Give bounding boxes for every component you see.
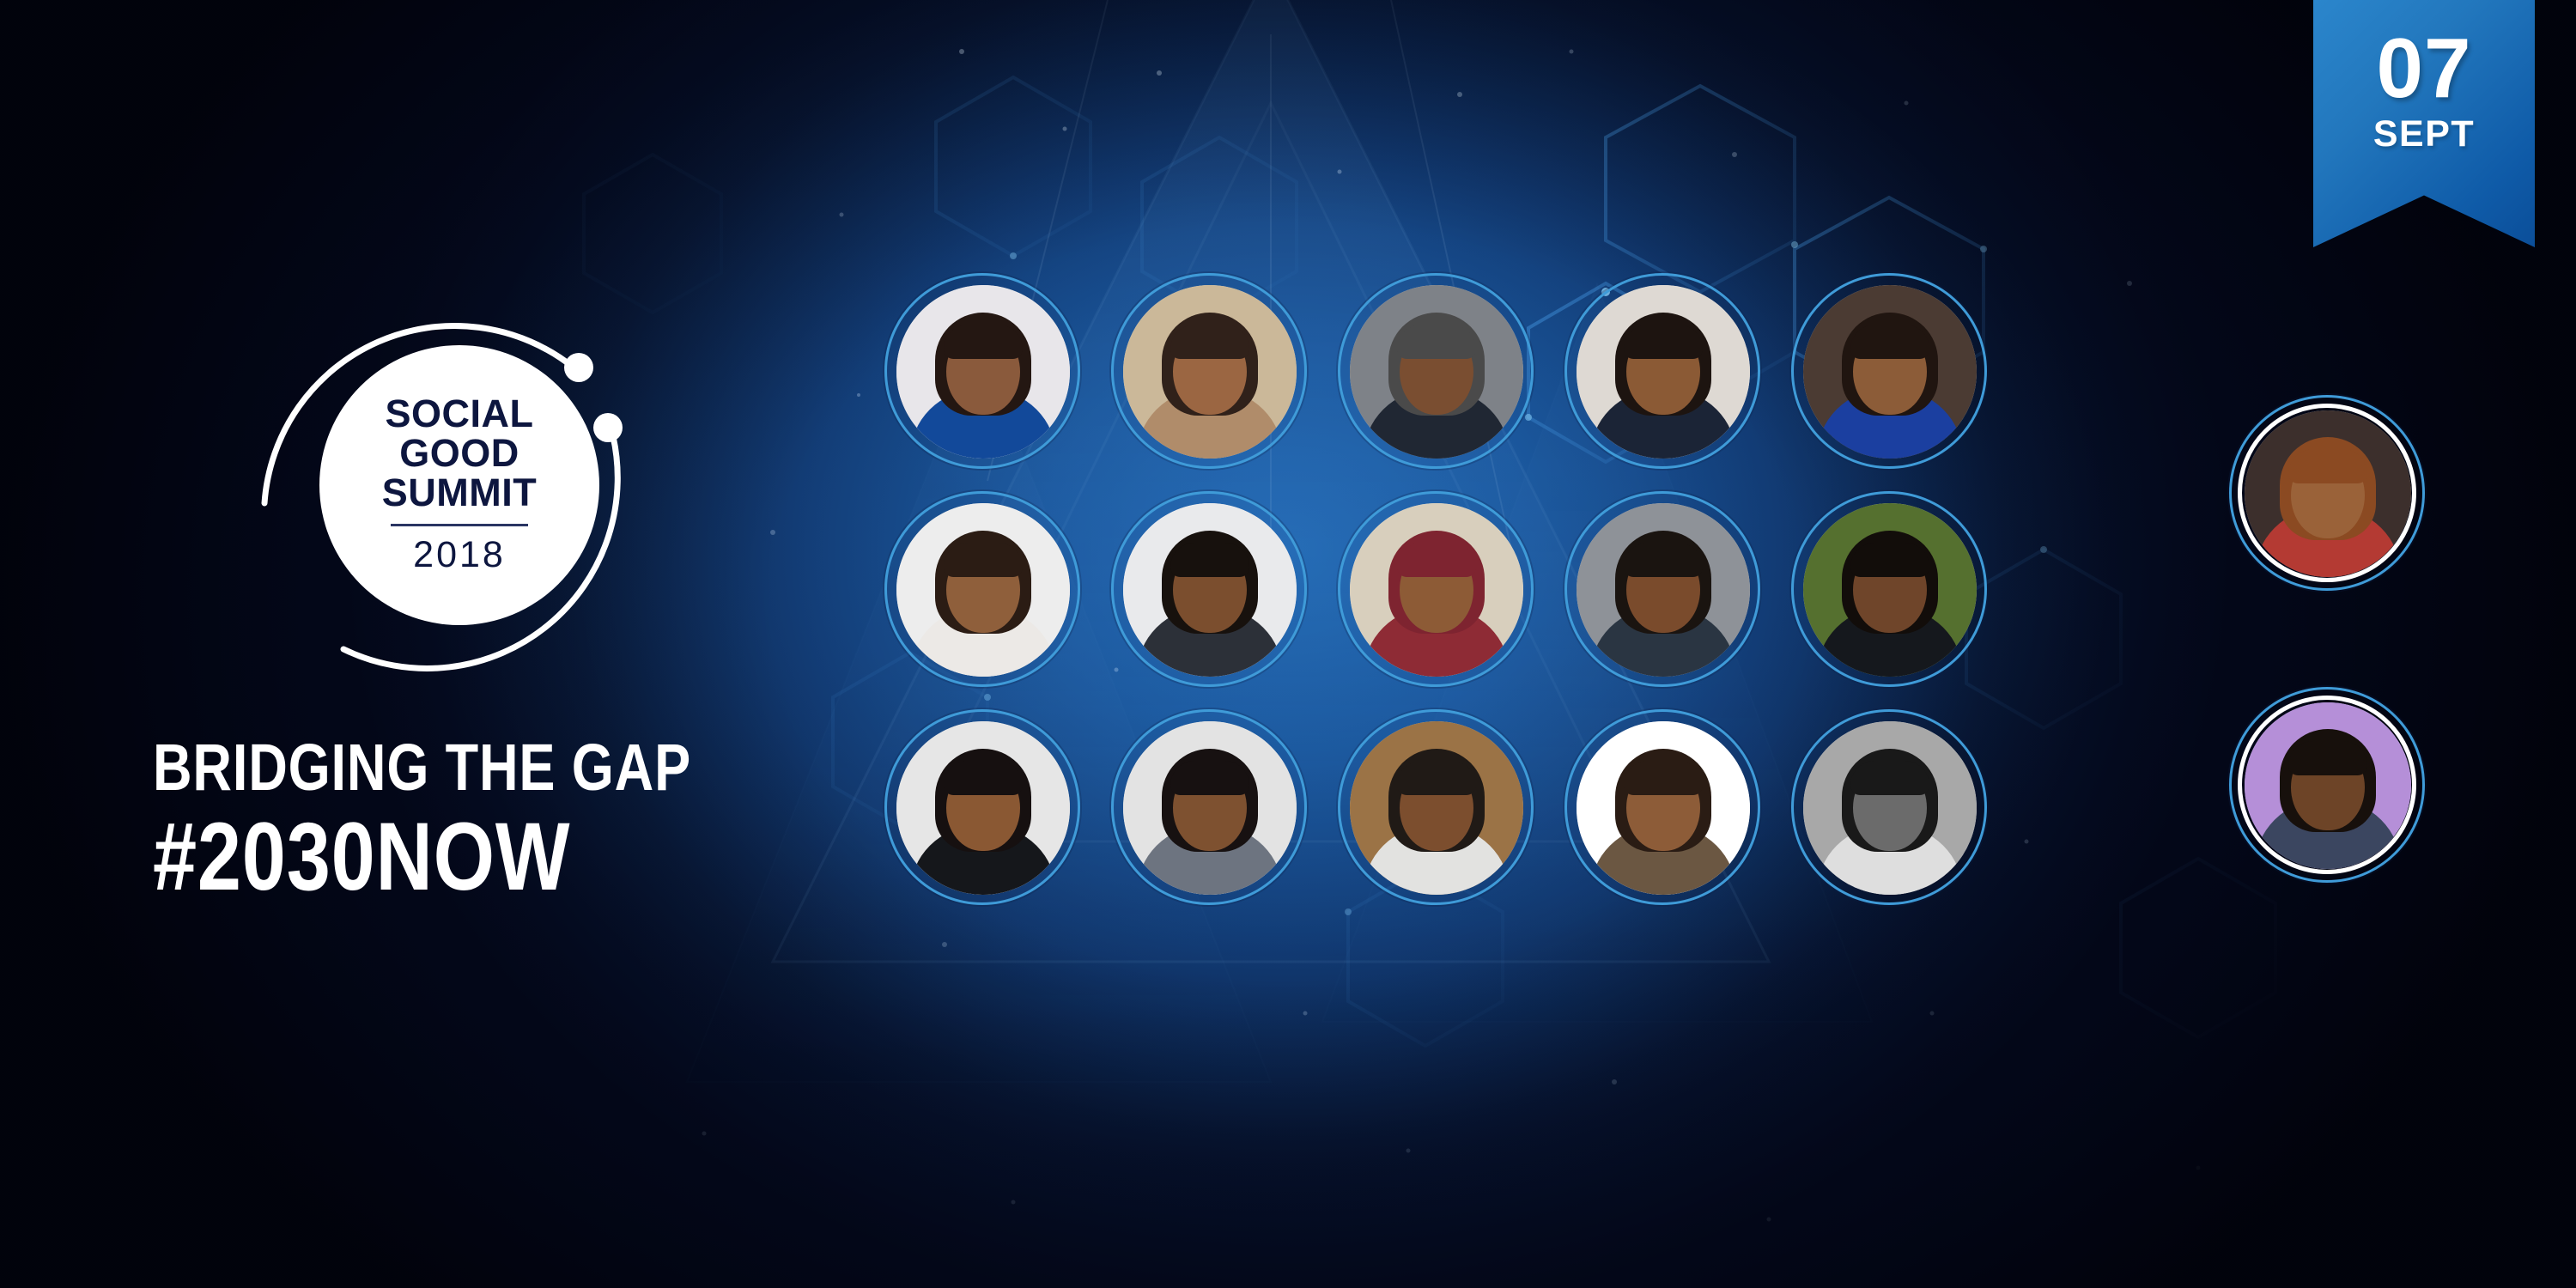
speaker-portrait (1791, 273, 1987, 469)
speaker-portrait (1564, 491, 1760, 687)
logo-line-summit: SUMMIT (382, 473, 537, 513)
speaker-16-photo (2245, 410, 2411, 577)
speaker-grid-row (884, 273, 1987, 469)
speaker-15-photo (1803, 721, 1977, 895)
speaker-portrait (2229, 395, 2425, 591)
footer-partners: POWERED BY (0, 1091, 2576, 1288)
speaker-portrait (1564, 709, 1760, 905)
speaker-17-photo (2245, 702, 2411, 869)
speaker-4-photo (1577, 285, 1750, 459)
speaker-grid-row (884, 491, 1987, 687)
speaker-portrait (884, 273, 1080, 469)
speaker-9-photo (1577, 503, 1750, 677)
speaker-portrait (884, 491, 1080, 687)
brand-column: SOCIAL GOOD SUMMIT 2018 BRIDGING THE GAP… (0, 0, 859, 1116)
speaker-grid-row (884, 709, 1987, 905)
speaker-7-photo (1123, 503, 1297, 677)
speaker-13-photo (1350, 721, 1523, 895)
speaker-portrait (1111, 491, 1307, 687)
speaker-portrait (1564, 273, 1760, 469)
tagline-primary: BRIDGING THE GAP (153, 734, 688, 802)
speaker-portrait (1338, 709, 1534, 905)
speaker-10-photo (1803, 503, 1977, 677)
speaker-portrait (2229, 687, 2425, 883)
speaker-14-photo (1577, 721, 1750, 895)
date-day: 07 (2376, 26, 2471, 110)
logo-line-good: GOOD (399, 434, 519, 473)
logo-year: 2018 (413, 534, 506, 576)
tagline-hashtag: #2030NOW (153, 807, 688, 906)
logo-line-social: SOCIAL (385, 394, 533, 434)
speaker-portrait (1111, 273, 1307, 469)
summit-logo-disc: SOCIAL GOOD SUMMIT 2018 (319, 345, 599, 625)
speaker-side-bottom (2229, 687, 2425, 883)
event-tagline: BRIDGING THE GAP #2030NOW (153, 734, 805, 907)
speaker-portrait (1338, 273, 1534, 469)
event-banner: SOCIAL GOOD SUMMIT 2018 BRIDGING THE GAP… (0, 0, 2576, 1288)
speaker-5-photo (1803, 285, 1977, 459)
speaker-portrait (1791, 491, 1987, 687)
speaker-portrait (884, 709, 1080, 905)
date-month: SEPT (2373, 113, 2475, 155)
speaker-portrait (1791, 709, 1987, 905)
logo-divider (391, 524, 528, 526)
speaker-grid (884, 273, 1987, 927)
speaker-3-photo (1350, 285, 1523, 459)
date-badge: 07 SEPT (2313, 0, 2535, 247)
speaker-portrait (1338, 491, 1534, 687)
speaker-6-photo (896, 503, 1070, 677)
speaker-portrait (1111, 709, 1307, 905)
speaker-8-photo (1350, 503, 1523, 677)
speaker-12-photo (1123, 721, 1297, 895)
speaker-side-top (2229, 395, 2425, 591)
speaker-2-photo (1123, 285, 1297, 459)
speaker-1-photo (896, 285, 1070, 459)
summit-logo: SOCIAL GOOD SUMMIT 2018 (240, 273, 670, 702)
speaker-11-photo (896, 721, 1070, 895)
